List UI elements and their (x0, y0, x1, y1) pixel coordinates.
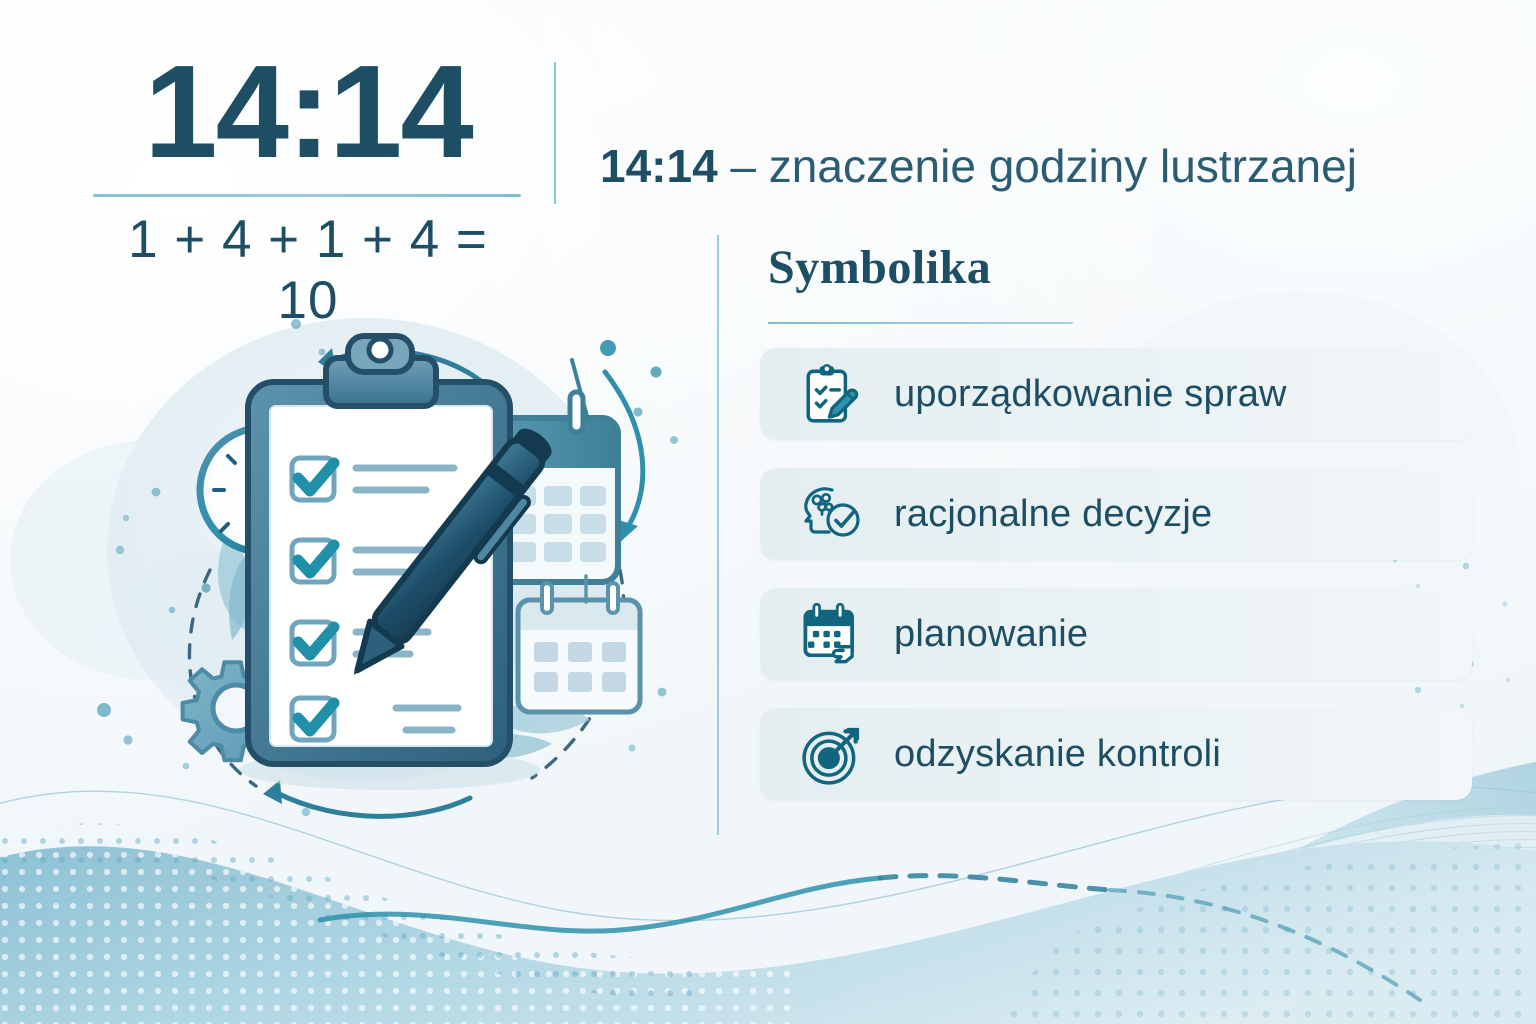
head-brain-check-icon (794, 481, 872, 547)
symbolism-card-list: uporządkowanie spraw (760, 348, 1472, 828)
list-item[interactable]: planowanie (760, 588, 1472, 680)
list-item-label: uporządkowanie spraw (894, 373, 1287, 416)
list-item[interactable]: odzyskanie kontroli (760, 708, 1472, 800)
infographic-canvas: 14:14 1 + 4 + 1 + 4 = 10 14:14 – znaczen… (0, 0, 1536, 1024)
clock-block: 14:14 1 + 4 + 1 + 4 = 10 (93, 46, 523, 331)
page-title-time: 14:14 (600, 140, 718, 192)
clipboard-pencil-icon (794, 361, 872, 427)
clipboard-checklist-illustration (60, 300, 700, 840)
list-item-label: racjonalne decyzje (894, 493, 1212, 536)
list-item-label: planowanie (894, 613, 1088, 656)
page-title-rest: – znaczenie godziny lustrzanej (718, 140, 1357, 192)
list-item[interactable]: uporządkowanie spraw (760, 348, 1472, 440)
page-title: 14:14 – znaczenie godziny lustrzanej (600, 139, 1500, 193)
clock-time: 14:14 (93, 46, 523, 178)
symbolism-heading: Symbolika (768, 240, 991, 295)
list-item[interactable]: racjonalne decyzje (760, 468, 1472, 560)
column-vertical-divider (717, 235, 719, 835)
list-item-label: odzyskanie kontroli (894, 733, 1221, 776)
symbolism-underline (768, 322, 1073, 324)
clock-divider-rule (93, 194, 521, 197)
header-vertical-divider (554, 62, 556, 204)
target-arrow-icon (794, 721, 872, 787)
calendar-icon (794, 601, 872, 667)
